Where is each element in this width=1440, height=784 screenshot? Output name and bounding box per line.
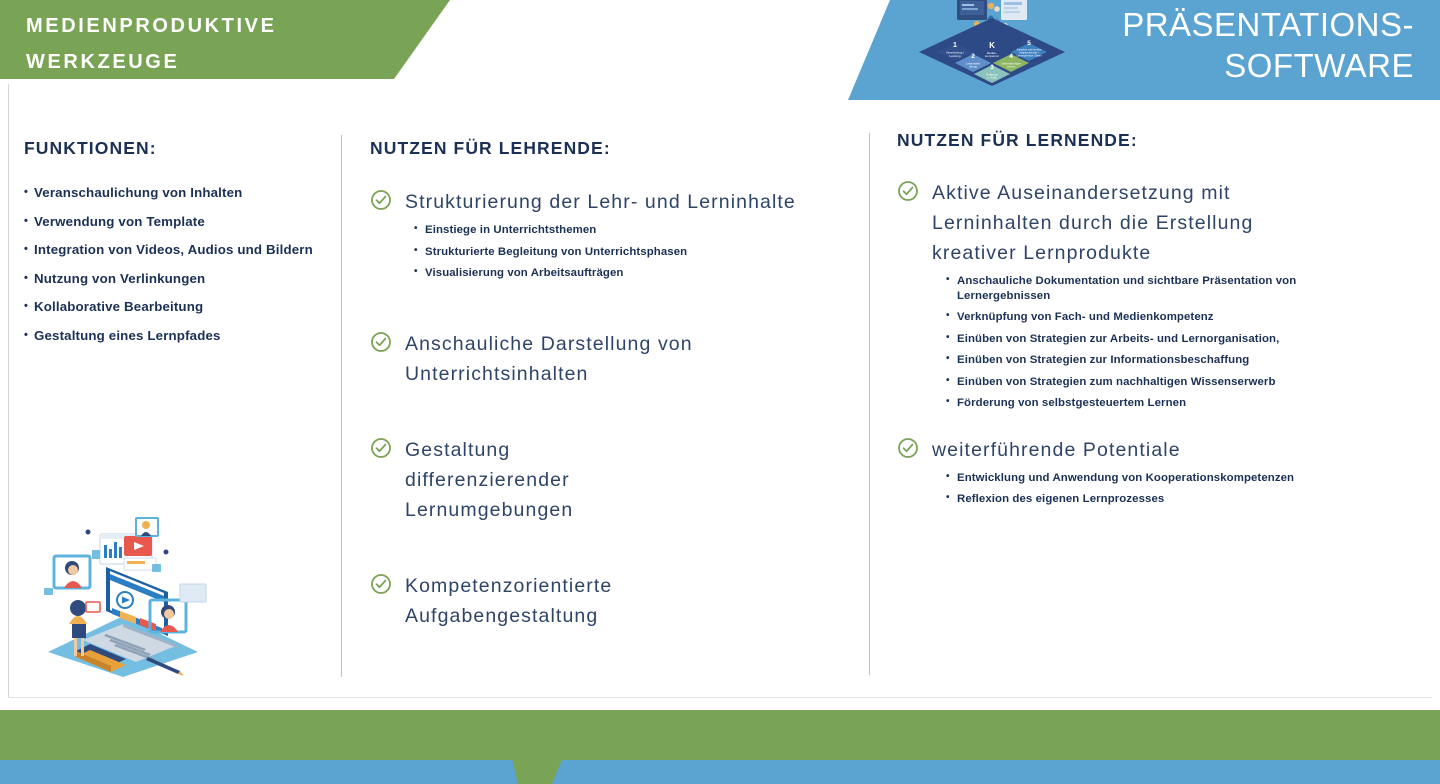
svg-text:2: 2 [971,53,975,60]
check-circle-icon [897,437,919,459]
list-item: Einüben von Strategien zur Arbeits- und … [946,332,1422,347]
benefit-sublist: Anschauliche Dokumentation und sichtbare… [946,274,1422,411]
column-functions: FUNKTIONEN: Veranschaulichung von Inhalt… [24,138,329,356]
header-left-title-line2: WERKZEUGE [26,44,426,80]
benefit-item: Kompetenzorientierte Aufgabengestaltung [370,571,860,631]
benefit-sublist: Einstiege in Unterrichtsthemen Strukturi… [414,223,860,281]
functions-list: Veranschaulichung von Inhalten Verwendun… [24,185,329,344]
list-item: Kollaborative Bearbeitung [24,299,329,315]
check-circle-icon [370,189,392,211]
svg-text:1: 1 [953,42,957,49]
benefit-item: Strukturierung der Lehr- und Lerninhalte… [370,187,860,281]
column-learners: NUTZEN FÜR LERNENDE: Aktive Auseinanders… [897,130,1422,514]
column-divider-1 [341,135,342,677]
svg-text:4: 4 [1009,53,1013,60]
footer-blue-bar [0,760,1440,784]
kompetenz-diamant-logo: 1 Verarbeitung / Leistung 2 Lebenswelt b… [905,0,1080,96]
list-item: Veranschaulichung von Inhalten [24,185,329,201]
list-item: Strukturierte Begleitung von Unterrichts… [414,245,860,260]
benefit-title: Strukturierung der Lehr- und Lerninhalte [405,187,796,217]
check-circle-icon [370,573,392,595]
check-circle-icon [370,437,392,459]
learners-title: NUTZEN FÜR LERNENDE: [897,130,1422,151]
list-item: Verknüpfung von Fach- und Medienkompeten… [946,310,1422,325]
teachers-title: NUTZEN FÜR LEHRENDE: [370,138,860,159]
list-item: Reflexion des eigenen Lernprozesses [946,492,1422,507]
benefit-title: Anschauliche Darstellung von Unterrichts… [405,329,860,389]
svg-text:3: 3 [990,64,994,71]
elearning-laptop-illustration [28,512,218,677]
benefit-title: Aktive Auseinandersetzung mit Lerninhalt… [932,178,1292,268]
benefit-item: Anschauliche Darstellung von Unterrichts… [370,329,860,389]
list-item: Visualisierung von Arbeitsaufträgen [414,266,860,281]
svg-text:K: K [989,41,995,50]
list-item: Verwendung von Template [24,214,329,230]
svg-text:bezug: bezug [969,65,977,69]
header-right-title-line2: SOFTWARE [1122,45,1414,86]
header-right-title-line1: PRÄSENTATIONS- [1122,4,1414,45]
page-border-bottom [8,697,1432,698]
list-item: Einüben von Strategien zur Informationsb… [946,353,1422,368]
list-item: Anschauliche Dokumentation und sichtbare… [946,274,1332,303]
list-item: Nutzung von Verlinkungen [24,271,329,287]
svg-text:Lernergebnisse / Daten: Lernergebnisse / Daten [1017,54,1043,57]
benefit-item: Aktive Auseinandersetzung mit Lerninhalt… [897,178,1422,411]
list-item: Gestaltung eines Lernpfades [24,328,329,344]
list-item: Einstiege in Unterrichtsthemen [414,223,860,238]
functions-title: FUNKTIONEN: [24,138,329,159]
svg-text:u. Kritik: u. Kritik [987,75,997,79]
benefit-sublist: Entwicklung und Anwendung von Kooperatio… [946,471,1422,507]
list-item: Förderung von selbstgesteuertem Lernen [946,396,1422,411]
benefit-title: Kompetenzorientierte Aufgabengestaltung [405,571,650,631]
benefit-item: Gestaltung differenzierender Lernumgebun… [370,435,860,525]
check-circle-icon [897,180,919,202]
header-left-title: MEDIENPRODUKTIVE WERKZEUGE [26,8,426,80]
header-left-title-line1: MEDIENPRODUKTIVE [26,8,426,44]
column-divider-2 [869,133,870,675]
header-right-title: PRÄSENTATIONS- SOFTWARE [1122,4,1414,86]
svg-text:Leistung: Leistung [950,54,961,58]
list-item: Einüben von Strategien zum nachhaltigen … [946,375,1422,390]
list-item: Integration von Videos, Audios und Bilde… [24,242,329,258]
page-border-left [8,84,9,698]
benefit-item: weiterführende Potentiale Entwicklung un… [897,435,1422,507]
slide-root: MEDIENPRODUKTIVE WERKZEUGE [0,0,1440,784]
list-item: Entwicklung und Anwendung von Kooperatio… [946,471,1422,486]
column-teachers: NUTZEN FÜR LEHRENDE: Strukturierung der … [370,138,860,631]
svg-text:Lernen: Lernen [1007,65,1016,69]
benefit-title: weiterführende Potentiale [932,435,1181,465]
svg-text:kompetenz: kompetenz [985,54,999,58]
check-circle-icon [370,331,392,353]
svg-text:5: 5 [1027,40,1031,47]
benefit-title: Gestaltung differenzierender Lernumgebun… [405,435,620,525]
